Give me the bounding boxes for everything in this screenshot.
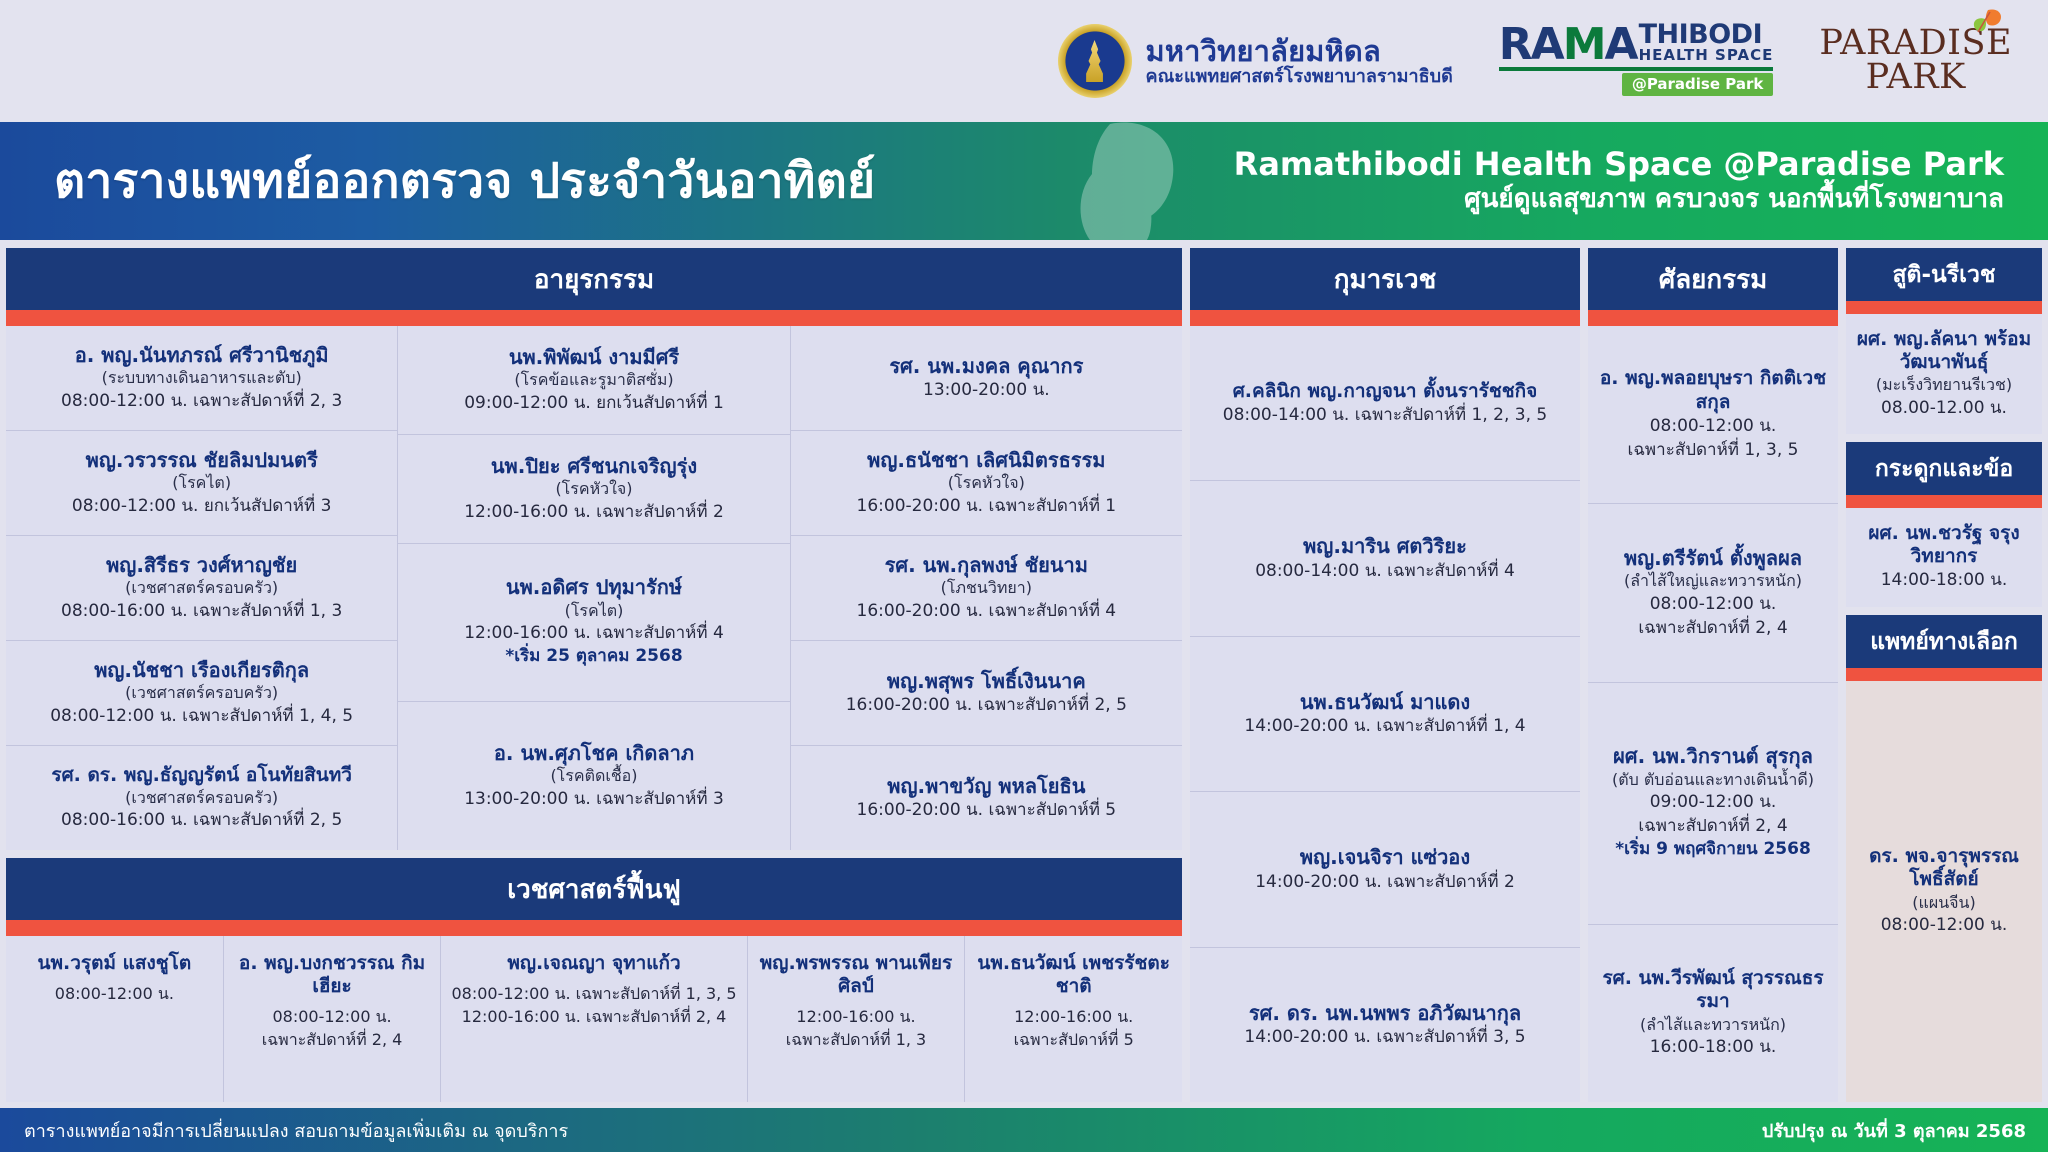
section-rule bbox=[1846, 301, 2042, 314]
doctor-time: 08:00-12:00 น. เฉพาะสัปดาห์ที่ 2, 3 bbox=[14, 389, 389, 413]
doctor-name: พญ.พาขวัญ พหลโยธิน bbox=[799, 774, 1174, 798]
doctor-cell[interactable]: นพ.ปิยะ ศรีชนกเจริญรุ่ง (โรคหัวใจ) 12:00… bbox=[398, 434, 789, 543]
doctor-cell[interactable]: รศ. นพ.มงคล คุณากร 13:00-20:00 น. bbox=[791, 326, 1182, 430]
doctor-time-secondary: 12:00-16:00 น. เฉพาะสัปดาห์ที่ 2, 4 bbox=[462, 1006, 727, 1029]
doctor-specialty: (ตับ ตับอ่อนและทางเดินน้ำดี) bbox=[1596, 769, 1830, 791]
doctor-name: รศ. นพ.วีรพัฒน์ สุวรรณธรรมา bbox=[1596, 967, 1830, 1013]
doctor-specialty: (เวชศาสตร์ครอบครัว) bbox=[14, 787, 389, 809]
doctor-time-secondary: เฉพาะสัปดาห์ที่ 5 bbox=[1014, 1029, 1134, 1052]
doctor-name: นพ.ปิยะ ศรีชนกเจริญรุ่ง bbox=[406, 454, 781, 478]
section-header-orthopedics: กระดูกและข้อ bbox=[1846, 442, 2042, 495]
doctor-time: 08:00-12:00 น. bbox=[55, 983, 174, 1006]
title-banner: ตารางแพทย์ออกตรวจ ประจำวันอาทิตย์ Ramath… bbox=[0, 122, 2048, 240]
doctor-time-secondary: เฉพาะสัปดาห์ที่ 2, 4 bbox=[262, 1029, 403, 1052]
doctor-time: 08:00-14:00 น. เฉพาะสัปดาห์ที่ 1, 2, 3, … bbox=[1198, 403, 1572, 427]
doctor-name: นพ.ธนวัฒน์ มาแดง bbox=[1198, 690, 1572, 714]
banner-left: ตารางแพทย์ออกตรวจ ประจำวันอาทิตย์ bbox=[0, 143, 1112, 219]
doctor-name: ดร. พจ.จารุพรรณ โพธิ์สัตย์ bbox=[1854, 845, 2034, 891]
doctor-cell[interactable]: อ. นพ.ศุภโชค เกิดลาภ (โรคติดเชื้อ) 13:00… bbox=[398, 701, 789, 850]
doctor-name: พญ.พรพรรณ พานเพียรศิลป์ bbox=[758, 952, 955, 998]
doctor-time: 16:00-20:00 น. เฉพาะสัปดาห์ที่ 5 bbox=[799, 798, 1174, 822]
doctor-time: 12:00-16:00 น. เฉพาะสัปดาห์ที่ 4 bbox=[406, 621, 781, 645]
doctor-name: รศ. ดร. พญ.ธัญญรัตน์ อโนทัยสินทวี bbox=[14, 764, 389, 787]
doctor-cell[interactable]: พญ.เจณญา จุทาแก้ว 08:00-12:00 น. เฉพาะสั… bbox=[440, 936, 746, 1102]
doctor-cell[interactable]: ผศ. นพ.วิกรานต์ สุรกุล (ตับ ตับอ่อนและทา… bbox=[1588, 682, 1838, 924]
doctor-specialty: (แผนจีน) bbox=[1854, 892, 2034, 914]
section-header-alternative: แพทย์ทางเลือก bbox=[1846, 615, 2042, 668]
section-rule bbox=[6, 920, 1182, 936]
page-title: ตารางแพทย์ออกตรวจ ประจำวันอาทิตย์ bbox=[54, 143, 1112, 219]
left-column: อายุรกรรม อ. พญ.นันทภรณ์ ศรีวานิชภูมิ (ร… bbox=[6, 248, 1182, 1102]
doctor-name: ผศ. นพ.วิกรานต์ สุรกุล bbox=[1596, 744, 1830, 768]
section-header-pediatrics: กุมารเวช bbox=[1190, 248, 1580, 310]
doctor-specialty: (ลำไส้ใหญ่และทวารหนัก) bbox=[1596, 570, 1830, 592]
rama-paradise-tag: @Paradise Park bbox=[1622, 73, 1774, 96]
doctor-cell[interactable]: พญ.พสุพร โพธิ์เงินนาค 16:00-20:00 น. เฉพ… bbox=[791, 640, 1182, 745]
doctor-name: พญ.ตรีรัตน์ ตั้งพูลผล bbox=[1596, 546, 1830, 570]
internal-medicine-subcolumn-2: นพ.พิพัฒน์ งามมีศรี (โรคข้อและรูมาติสซั่… bbox=[397, 326, 789, 850]
doctor-specialty: (โรคไต) bbox=[14, 472, 389, 494]
doctor-cell[interactable]: พญ.ตรีรัตน์ ตั้งพูลผล (ลำไส้ใหญ่และทวารห… bbox=[1588, 503, 1838, 681]
banner-right: Ramathibodi Health Space @Paradise Park … bbox=[1112, 145, 2048, 217]
doctor-time: 13:00-20:00 น. เฉพาะสัปดาห์ที่ 3 bbox=[406, 787, 781, 811]
section-rehabilitation: เวชศาสตร์ฟื้นฟู นพ.วรุตม์ แสงชูโต 08:00-… bbox=[6, 858, 1182, 1102]
section-surgery: ศัลยกรรม อ. พญ.พลอยบุษรา กิตติเวชสกุล 08… bbox=[1588, 248, 1838, 1102]
doctor-name: ศ.คลินิก พญ.กาญจนา ตั้งนรารัชชกิจ bbox=[1198, 380, 1572, 403]
section-rule bbox=[1846, 495, 2042, 508]
doctor-time-secondary: เฉพาะสัปดาห์ที่ 2, 4 bbox=[1596, 616, 1830, 640]
doctor-specialty: (โรคหัวใจ) bbox=[799, 472, 1174, 494]
doctor-cell[interactable]: พญ.มาริน ศตวิริยะ 08:00-14:00 น. เฉพาะสั… bbox=[1190, 480, 1580, 635]
doctor-time: 08:00-16:00 น. เฉพาะสัปดาห์ที่ 2, 5 bbox=[14, 808, 389, 832]
doctor-time: 08:00-12:00 น. bbox=[1596, 592, 1830, 616]
rama-healthspace-text: HEALTH SPACE bbox=[1639, 48, 1774, 62]
surgery-column: อ. พญ.พลอยบุษรา กิตติเวชสกุล 08:00-12:00… bbox=[1588, 326, 1838, 1102]
doctor-specialty: (โรคติดเชื้อ) bbox=[406, 765, 781, 787]
doctor-specialty: (มะเร็งวิทยานรีเวช) bbox=[1854, 374, 2034, 396]
doctor-specialty: (โรคไต) bbox=[406, 600, 781, 622]
doctor-time: 16:00-20:00 น. เฉพาะสัปดาห์ที่ 4 bbox=[799, 599, 1174, 623]
doctor-time: 14:00-18:00 น. bbox=[1854, 568, 2034, 592]
footer-note: ตารางแพทย์อาจมีการเปลี่ยนแปลง สอบถามข้อม… bbox=[24, 1116, 568, 1145]
doctor-specialty: (ลำไส้และทวารหนัก) bbox=[1596, 1014, 1830, 1036]
doctor-cell[interactable]: รศ. ดร. พญ.ธัญญรัตน์ อโนทัยสินทวี (เวชศา… bbox=[6, 745, 397, 850]
obgyn-panel: ผศ. พญ.ลัคนา พร้อมวัฒนาพันธุ์ (มะเร็งวิท… bbox=[1846, 314, 2042, 434]
doctor-specialty: (ระบบทางเดินอาหารและตับ) bbox=[14, 367, 389, 389]
doctor-name: อ. พญ.พลอยบุษรา กิตติเวชสกุล bbox=[1596, 367, 1830, 413]
doctor-cell[interactable]: พญ.พรพรรณ พานเพียรศิลป์ 12:00-16:00 น. เ… bbox=[747, 936, 965, 1102]
doctor-start-note: *เริ่ม 25 ตุลาคม 2568 bbox=[406, 645, 781, 669]
doctor-time: 12:00-16:00 น. เฉพาะสัปดาห์ที่ 2 bbox=[406, 500, 781, 524]
doctor-name: ผศ. นพ.ชวรัฐ จรุงวิทยากร bbox=[1854, 522, 2034, 568]
pediatrics-panel: ศ.คลินิก พญ.กาญจนา ตั้งนรารัชชกิจ 08:00-… bbox=[1190, 326, 1580, 1102]
doctor-name: ผศ. พญ.ลัคนา พร้อมวัฒนาพันธุ์ bbox=[1854, 328, 2034, 374]
doctor-name: พญ.เจนจิรา แซ่วอง bbox=[1198, 845, 1572, 869]
doctor-time: 08:00-12:00 น. bbox=[1596, 414, 1830, 438]
doctor-cell[interactable]: ผศ. พญ.ลัคนา พร้อมวัฒนาพันธุ์ (มะเร็งวิท… bbox=[1846, 314, 2042, 434]
alternative-panel: ดร. พจ.จารุพรรณ โพธิ์สัตย์ (แผนจีน) 08:0… bbox=[1846, 681, 2042, 1102]
leaf-icon bbox=[1968, 8, 2002, 34]
section-pediatrics: กุมารเวช ศ.คลินิก พญ.กาญจนา ตั้งนรารัชชก… bbox=[1190, 248, 1580, 1102]
doctor-time-secondary: เฉพาะสัปดาห์ที่ 1, 3, 5 bbox=[1596, 438, 1830, 462]
doctor-cell[interactable]: รศ. นพ.วีรพัฒน์ สุวรรณธรรมา (ลำไส้และทวา… bbox=[1588, 924, 1838, 1102]
doctor-cell[interactable]: อ. พญ.พลอยบุษรา กิตติเวชสกุล 08:00-12:00… bbox=[1588, 326, 1838, 503]
doctor-name: นพ.ธนวัฒน์ เพชรรัชตะชาติ bbox=[975, 952, 1172, 998]
doctor-cell[interactable]: พญ.พาขวัญ พหลโยธิน 16:00-20:00 น. เฉพาะส… bbox=[791, 745, 1182, 850]
doctor-cell[interactable]: ศ.คลินิก พญ.กาญจนา ตั้งนรารัชชกิจ 08:00-… bbox=[1190, 326, 1580, 480]
doctor-time: 14:00-20:00 น. เฉพาะสัปดาห์ที่ 1, 4 bbox=[1198, 714, 1572, 738]
doctor-name: รศ. นพ.มงคล คุณากร bbox=[799, 354, 1174, 378]
doctor-cell[interactable]: พญ.ธนัชชา เลิศนิมิตรธรรม (โรคหัวใจ) 16:0… bbox=[791, 430, 1182, 535]
doctor-cell[interactable]: นพ.ธนวัฒน์ เพชรรัชตะชาติ 12:00-16:00 น. … bbox=[964, 936, 1182, 1102]
orthopedics-panel: ผศ. นพ.ชวรัฐ จรุงวิทยากร 14:00-18:00 น. bbox=[1846, 508, 2042, 606]
doctor-cell[interactable]: รศ. ดร. นพ.นพพร อภิวัฒนากุล 14:00-20:00 … bbox=[1190, 947, 1580, 1102]
doctor-start-note: *เริ่ม 9 พฤศจิกายน 2568 bbox=[1596, 838, 1830, 862]
schedule-body: อายุรกรรม อ. พญ.นันทภรณ์ ศรีวานิชภูมิ (ร… bbox=[0, 240, 2048, 1102]
section-rule bbox=[6, 310, 1182, 326]
doctor-name: นพ.วรุตม์ แสงชูโต bbox=[38, 952, 192, 975]
section-alternative: แพทย์ทางเลือก ดร. พจ.จารุพรรณ โพธิ์สัตย์… bbox=[1846, 615, 2042, 1102]
doctor-cell[interactable]: พญ.สิรีธร วงศ์หาญชัย (เวชศาสตร์ครอบครัว)… bbox=[6, 535, 397, 640]
doctor-cell[interactable]: พญ.เจนจิรา แซ่วอง 14:00-20:00 น. เฉพาะสั… bbox=[1190, 791, 1580, 946]
doctor-name: อ. นพ.ศุภโชค เกิดลาภ bbox=[406, 741, 781, 765]
doctor-name: รศ. นพ.กุลพงษ์ ชัยนาม bbox=[799, 553, 1174, 577]
doctor-specialty: (เวชศาสตร์ครอบครัว) bbox=[14, 682, 389, 704]
doctor-specialty: (โภชนวิทยา) bbox=[799, 577, 1174, 599]
doctor-cell[interactable]: พญ.นัชชา เรืองเกียรติกุล (เวชศาสตร์ครอบค… bbox=[6, 640, 397, 745]
doctor-cell[interactable]: พญ.วรวรรณ ชัยลิมปมนตรี (โรคไต) 08:00-12:… bbox=[6, 430, 397, 535]
footer-updated-date: ปรับปรุง ณ วันที่ 3 ตุลาคม 2568 bbox=[1762, 1116, 2026, 1145]
doctor-time: 12:00-16:00 น. bbox=[796, 1006, 915, 1029]
doctor-specialty: (โรคหัวใจ) bbox=[406, 478, 781, 500]
paradise-line2: PARK bbox=[1819, 61, 2012, 95]
doctor-time: 08:00-12:00 น. ยกเว้นสัปดาห์ที่ 3 bbox=[14, 494, 389, 518]
doctor-cell[interactable]: นพ.พิพัฒน์ งามมีศรี (โรคข้อและรูมาติสซั่… bbox=[398, 326, 789, 434]
doctor-time: 13:00-20:00 น. bbox=[799, 378, 1174, 402]
doctor-name: อ. พญ.บงกชวรรณ กิมเฮียะ bbox=[234, 952, 431, 998]
doctor-name: พญ.นัชชา เรืองเกียรติกุล bbox=[14, 658, 389, 682]
mahidol-university-logo: มหาวิทยาลัยมหิดล คณะแพทยศาสตร์โรงพยาบาลร… bbox=[1058, 24, 1453, 98]
doctor-cell[interactable]: นพ.อดิศร ปทุมารักษ์ (โรคไต) 12:00-16:00 … bbox=[398, 543, 789, 701]
doctor-cell[interactable]: อ. พญ.บงกชวรรณ กิมเฮียะ 08:00-12:00 น. เ… bbox=[223, 936, 441, 1102]
doctor-time: 16:00-18:00 น. bbox=[1596, 1035, 1830, 1059]
doctor-time: 08:00-12:00 น. เฉพาะสัปดาห์ที่ 1, 3, 5 bbox=[451, 983, 736, 1006]
pediatrics-column: ศ.คลินิก พญ.กาญจนา ตั้งนรารัชชกิจ 08:00-… bbox=[1190, 326, 1580, 1102]
doctor-time: 08:00-12:00 น. เฉพาะสัปดาห์ที่ 1, 4, 5 bbox=[14, 704, 389, 728]
mahidol-faculty-th: คณะแพทยศาสตร์โรงพยาบาลรามาธิบดี bbox=[1146, 67, 1453, 87]
doctor-time: 08.00-12.00 น. bbox=[1854, 396, 2034, 420]
doctor-specialty: (โรคข้อและรูมาติสซั่ม) bbox=[406, 369, 781, 391]
doctor-name: พญ.ธนัชชา เลิศนิมิตรธรรม bbox=[799, 448, 1174, 472]
section-rule bbox=[1190, 310, 1580, 326]
doctor-cell[interactable]: อ. พญ.นันทภรณ์ ศรีวานิชภูมิ (ระบบทางเดิน… bbox=[6, 326, 397, 430]
mahidol-name-th: มหาวิทยาลัยมหิดล bbox=[1146, 35, 1453, 67]
rama-health-space-logo: RAMA THIBODI HEALTH SPACE @Paradise Park bbox=[1499, 22, 1774, 100]
section-header-internal-medicine: อายุรกรรม bbox=[6, 248, 1182, 310]
internal-medicine-subcolumn-3: รศ. นพ.มงคล คุณากร 13:00-20:00 น. พญ.ธนั… bbox=[790, 326, 1182, 850]
doctor-cell[interactable]: รศ. นพ.กุลพงษ์ ชัยนาม (โภชนวิทยา) 16:00-… bbox=[791, 535, 1182, 640]
doctor-cell[interactable]: ดร. พจ.จารุพรรณ โพธิ์สัตย์ (แผนจีน) 08:0… bbox=[1846, 681, 2042, 1102]
doctor-time: 08:00-12:00 น. bbox=[273, 1006, 392, 1029]
doctor-name: นพ.อดิศร ปทุมารักษ์ bbox=[406, 575, 781, 599]
banner-subtitle-en: Ramathibodi Health Space @Paradise Park bbox=[1112, 145, 2004, 183]
banner-subtitle-th: ศูนย์ดูแลสุขภาพ ครบวงจร นอกพื้นที่โรงพยา… bbox=[1112, 183, 2004, 217]
doctor-time: 14:00-20:00 น. เฉพาะสัปดาห์ที่ 2 bbox=[1198, 870, 1572, 894]
doctor-time: 08:00-14:00 น. เฉพาะสัปดาห์ที่ 4 bbox=[1198, 559, 1572, 583]
doctor-cell[interactable]: ผศ. นพ.ชวรัฐ จรุงวิทยากร 14:00-18:00 น. bbox=[1846, 508, 2042, 606]
doctor-specialty: (เวชศาสตร์ครอบครัว) bbox=[14, 577, 389, 599]
section-internal-medicine: อายุรกรรม อ. พญ.นันทภรณ์ ศรีวานิชภูมิ (ร… bbox=[6, 248, 1182, 850]
doctor-name: รศ. ดร. นพ.นพพร อภิวัฒนากุล bbox=[1198, 1001, 1572, 1025]
logo-bar: มหาวิทยาลัยมหิดล คณะแพทยศาสตร์โรงพยาบาลร… bbox=[0, 0, 2048, 122]
doctor-time: 09:00-12:00 น. bbox=[1596, 790, 1830, 814]
section-header-rehabilitation: เวชศาสตร์ฟื้นฟู bbox=[6, 858, 1182, 920]
doctor-time-secondary: เฉพาะสัปดาห์ที่ 2, 4 bbox=[1596, 814, 1830, 838]
right-column: สูติ-นรีเวช ผศ. พญ.ลัคนา พร้อมวัฒนาพันธุ… bbox=[1846, 248, 2042, 1102]
doctor-time: 16:00-20:00 น. เฉพาะสัปดาห์ที่ 2, 5 bbox=[799, 693, 1174, 717]
mahidol-seal-icon bbox=[1058, 24, 1132, 98]
section-rule bbox=[1588, 310, 1838, 326]
doctor-time: 08:00-12:00 น. bbox=[1854, 913, 2034, 937]
doctor-name: พญ.พสุพร โพธิ์เงินนาค bbox=[799, 669, 1174, 693]
doctor-time: 14:00-20:00 น. เฉพาะสัปดาห์ที่ 3, 5 bbox=[1198, 1025, 1572, 1049]
doctor-name: อ. พญ.นันทภรณ์ ศรีวานิชภูมิ bbox=[14, 343, 389, 367]
rama-thibodi-text: THIBODI bbox=[1639, 22, 1774, 48]
surgery-panel: อ. พญ.พลอยบุษรา กิตติเวชสกุล 08:00-12:00… bbox=[1588, 326, 1838, 1102]
doctor-time: 09:00-12:00 น. ยกเว้นสัปดาห์ที่ 1 bbox=[406, 391, 781, 415]
rama-wordmark: RAMA bbox=[1499, 25, 1637, 65]
section-orthopedics: กระดูกและข้อ ผศ. นพ.ชวรัฐ จรุงวิทยากร 14… bbox=[1846, 442, 2042, 606]
footer-bar: ตารางแพทย์อาจมีการเปลี่ยนแปลง สอบถามข้อม… bbox=[0, 1108, 2048, 1152]
doctor-time: 16:00-20:00 น. เฉพาะสัปดาห์ที่ 1 bbox=[799, 494, 1174, 518]
internal-medicine-subcolumn-1: อ. พญ.นันทภรณ์ ศรีวานิชภูมิ (ระบบทางเดิน… bbox=[6, 326, 397, 850]
doctor-cell[interactable]: นพ.วรุตม์ แสงชูโต 08:00-12:00 น. bbox=[6, 936, 223, 1102]
doctor-name: นพ.พิพัฒน์ งามมีศรี bbox=[406, 345, 781, 369]
doctor-cell[interactable]: นพ.ธนวัฒน์ มาแดง 14:00-20:00 น. เฉพาะสัป… bbox=[1190, 636, 1580, 791]
doctor-name: พญ.วรวรรณ ชัยลิมปมนตรี bbox=[14, 448, 389, 472]
doctor-time: 12:00-16:00 น. bbox=[1014, 1006, 1133, 1029]
section-header-surgery: ศัลยกรรม bbox=[1588, 248, 1838, 310]
doctor-name: พญ.สิรีธร วงศ์หาญชัย bbox=[14, 553, 389, 577]
section-rule bbox=[1846, 668, 2042, 681]
doctor-time-secondary: เฉพาะสัปดาห์ที่ 1, 3 bbox=[786, 1029, 927, 1052]
doctor-name: พญ.เจณญา จุทาแก้ว bbox=[507, 952, 680, 975]
paradise-park-logo: PARADISE PARK bbox=[1819, 27, 2012, 94]
rama-underline bbox=[1499, 67, 1774, 71]
doctor-time: 08:00-16:00 น. เฉพาะสัปดาห์ที่ 1, 3 bbox=[14, 599, 389, 623]
doctor-name: พญ.มาริน ศตวิริยะ bbox=[1198, 534, 1572, 558]
section-obgyn: สูติ-นรีเวช ผศ. พญ.ลัคนา พร้อมวัฒนาพันธุ… bbox=[1846, 248, 2042, 434]
section-header-obgyn: สูติ-นรีเวช bbox=[1846, 248, 2042, 301]
schedule-poster: มหาวิทยาลัยมหิดล คณะแพทยศาสตร์โรงพยาบาลร… bbox=[0, 0, 2048, 1152]
